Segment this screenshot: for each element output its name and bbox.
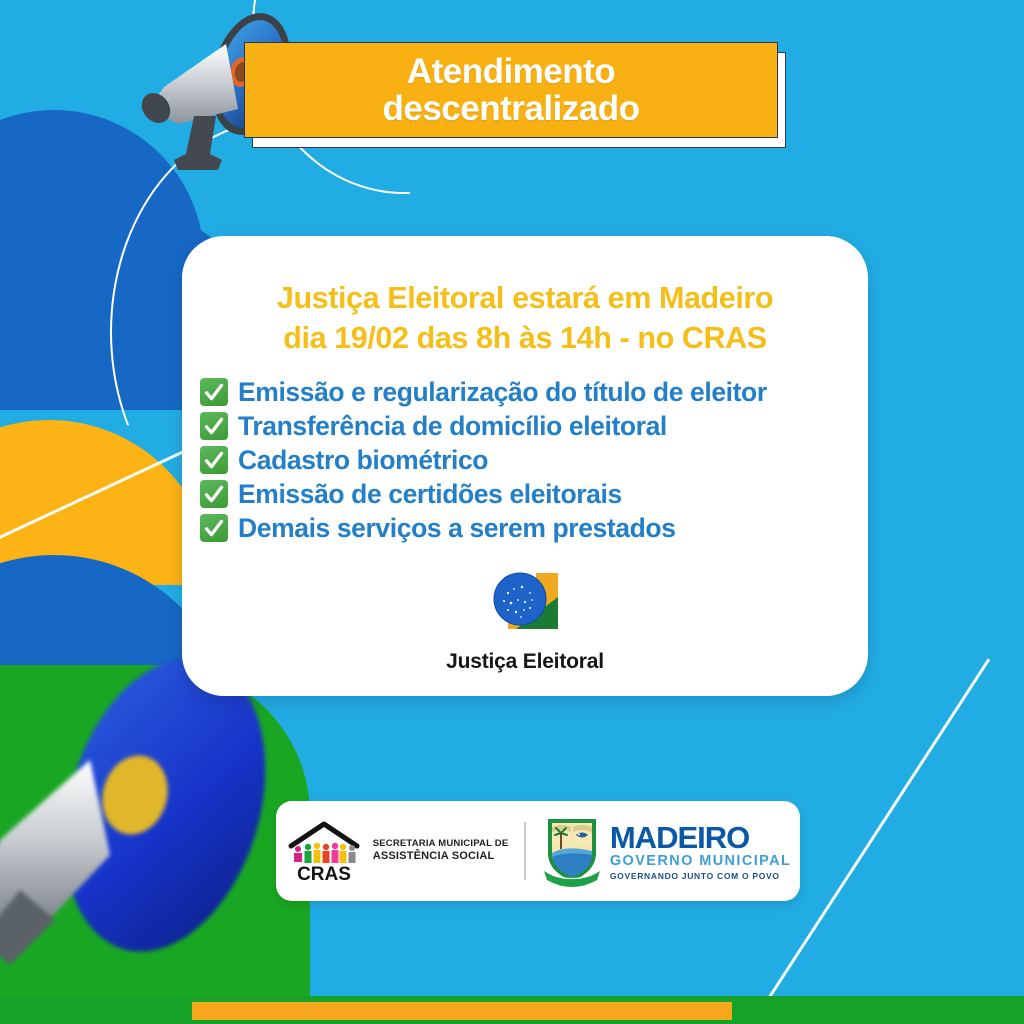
title-banner-plate: Atendimento descentralizado	[244, 42, 778, 138]
title-line-1: Atendimento	[382, 53, 639, 90]
check-icon	[200, 480, 228, 508]
title-line-2: descentralizado	[382, 90, 639, 127]
madeiro-logo-group: MADEIRO GOVERNO MUNICIPAL GOVERNANDO JUN…	[542, 813, 791, 889]
madeiro-slogan: GOVERNANDO JUNTO COM O POVO	[610, 872, 791, 881]
poster-canvas: Atendimento descentralizado Justiça Elei…	[0, 0, 1024, 1024]
justica-eleitoral-logo: Justiça Eleitoral	[182, 567, 868, 674]
list-item: Emissão e regularização do título de ele…	[200, 377, 868, 408]
cras-house-people-icon: CRAS	[285, 820, 363, 882]
check-icon	[200, 412, 228, 440]
cras-secretaria-text: SECRETARIA MUNICIPAL DE ASSISTÊNCIA SOCI…	[373, 838, 509, 864]
cras-line-2: ASSISTÊNCIA SOCIAL	[373, 850, 509, 864]
madeiro-name: MADEIRO	[610, 822, 791, 853]
list-item: Transferência de domicílio eleitoral	[200, 411, 868, 442]
title-banner-text: Atendimento descentralizado	[382, 53, 639, 127]
list-item: Cadastro biométrico	[200, 445, 868, 476]
check-icon	[200, 514, 228, 542]
check-icon	[200, 446, 228, 474]
headline: Justiça Eleitoral estará em Madeiro dia …	[182, 278, 868, 359]
list-item: Emissão de certidões eleitorais	[200, 479, 868, 510]
bottom-orange-bar	[192, 1002, 732, 1020]
cras-logo-group: CRAS SECRETARIA MUNICIPAL DE ASSISTÊNCIA…	[285, 820, 509, 882]
service-label: Emissão e regularização do título de ele…	[238, 377, 767, 408]
service-label: Transferência de domicílio eleitoral	[238, 411, 667, 442]
justica-eleitoral-caption: Justiça Eleitoral	[182, 650, 868, 674]
headline-line-2: dia 19/02 das 8h às 14h - no CRAS	[182, 318, 868, 358]
service-label: Emissão de certidões eleitorais	[238, 479, 622, 510]
list-item: Demais serviços a serem prestados	[200, 513, 868, 544]
footer-divider	[524, 822, 526, 880]
service-label: Demais serviços a serem prestados	[238, 513, 676, 544]
madeiro-wordmark: MADEIRO GOVERNO MUNICIPAL GOVERNANDO JUN…	[610, 822, 791, 880]
title-banner: Atendimento descentralizado	[244, 42, 776, 136]
service-label: Cadastro biométrico	[238, 445, 488, 476]
footer-logos-card: CRAS SECRETARIA MUNICIPAL DE ASSISTÊNCIA…	[276, 801, 800, 901]
check-icon	[200, 378, 228, 406]
madeiro-subtitle: GOVERNO MUNICIPAL	[610, 854, 791, 869]
cras-line-1: SECRETARIA MUNICIPAL DE	[373, 838, 509, 850]
justica-eleitoral-emblem-icon	[478, 567, 573, 645]
main-info-card: Justiça Eleitoral estará em Madeiro dia …	[182, 236, 868, 696]
services-list: Emissão e regularização do título de ele…	[200, 377, 868, 544]
headline-line-1: Justiça Eleitoral estará em Madeiro	[182, 278, 868, 318]
svg-text:CRAS: CRAS	[297, 864, 351, 882]
madeiro-coat-of-arms-icon	[542, 813, 602, 889]
